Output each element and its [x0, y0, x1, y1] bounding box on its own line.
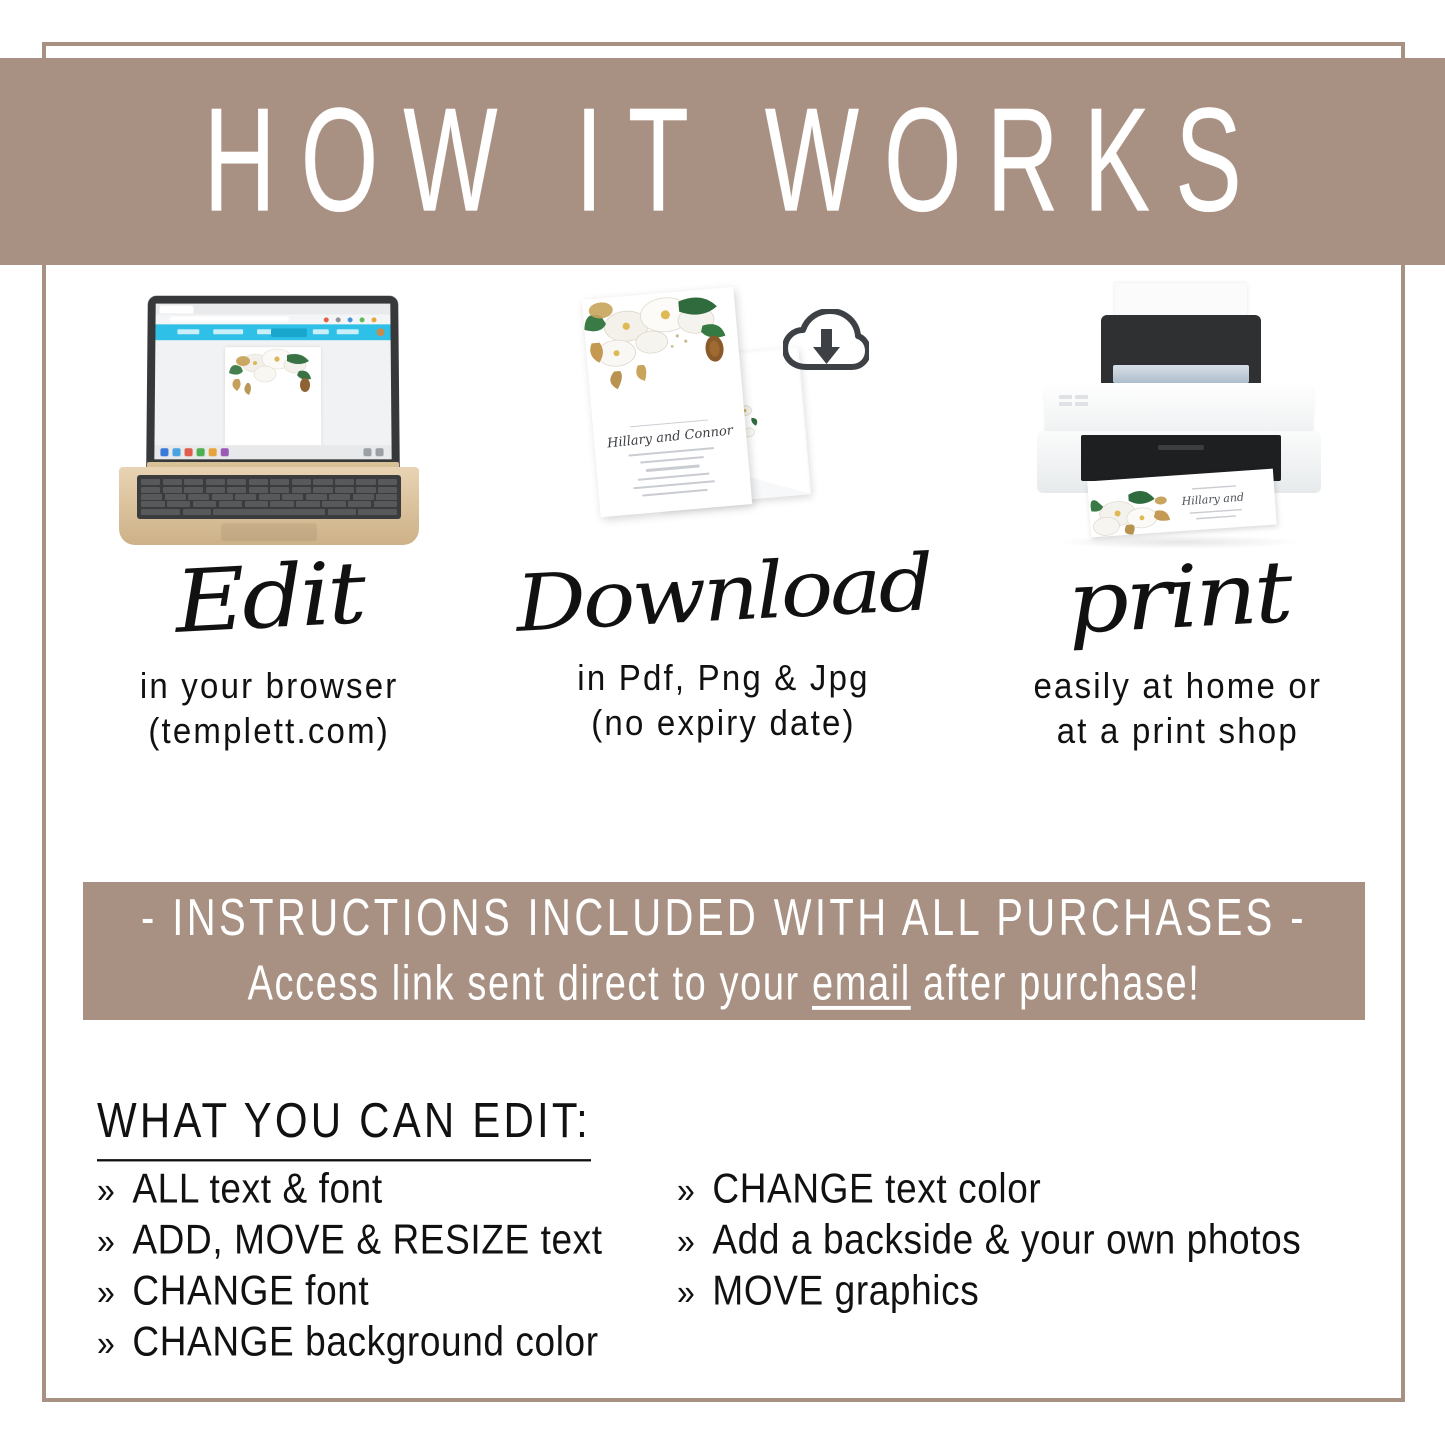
card-body-line: [634, 481, 716, 490]
invitation-floral-art: [225, 347, 322, 455]
keyboard-row: [141, 501, 397, 507]
edit-section-heading: WHAT YOU CAN EDIT:: [97, 1093, 591, 1161]
edit-item-label: CHANGE text color: [712, 1165, 1041, 1212]
laptop-keyboard: [137, 475, 401, 519]
taskbar-icon: [197, 448, 205, 456]
os-taskbar: [154, 445, 391, 459]
invitation-card-icon: H|C: [573, 287, 873, 545]
laptop-trackpad: [221, 523, 317, 541]
cloud-download-icon: [783, 309, 869, 375]
edit-item: »CHANGE background color: [97, 1318, 677, 1365]
browser-extension-icon: [372, 317, 377, 322]
edit-items-left-column: »ALL text & font »ADD, MOVE & RESIZE tex…: [97, 1168, 677, 1363]
edit-item-label: ADD, MOVE & RESIZE text: [132, 1216, 602, 1263]
step-caption: in your browser (templett.com): [140, 663, 399, 754]
card-body-line: [638, 473, 710, 481]
taskbar-icon: [209, 448, 217, 456]
editor-canvas: [155, 340, 392, 445]
card-date-line: [646, 465, 700, 473]
edit-item: »ADD, MOVE & RESIZE text: [97, 1216, 677, 1263]
toolbar-save: [313, 329, 329, 334]
laptop-lid: [146, 296, 400, 474]
toolbar-menu-edit: [213, 329, 243, 334]
card-text-block: Hillary and Connor: [593, 410, 752, 506]
browser-extension-icon: [360, 317, 365, 322]
browser-tabbar: [156, 304, 391, 315]
taskbar-clock: [376, 448, 384, 456]
browser-tab: [160, 306, 194, 314]
step-script-label: print: [1064, 549, 1291, 647]
printer-tray-guide: [1113, 365, 1249, 383]
toolbar-avatar: [377, 328, 385, 336]
taskbar-icon: [185, 448, 193, 456]
page-title: HOW IT WORKS: [178, 77, 1266, 246]
printer-icon: Hillary and: [1023, 283, 1333, 545]
taskbar-icon: [173, 448, 181, 456]
printer-illustration: Hillary and: [951, 280, 1405, 545]
step-caption: in Pdf, Png & Jpg (no expiry date): [577, 655, 869, 746]
bullet-icon: »: [677, 1272, 695, 1313]
edit-items-right-column: »CHANGE text color »Add a backside & you…: [677, 1168, 1377, 1363]
edit-items-columns: »ALL text & font »ADD, MOVE & RESIZE tex…: [97, 1168, 1387, 1363]
bullet-icon: »: [97, 1170, 115, 1211]
printer-slot-handle: [1158, 445, 1204, 450]
edit-item: »Add a backside & your own photos: [677, 1216, 1377, 1263]
caption-line-2: (templett.com): [140, 708, 399, 753]
laptop-illustration: [42, 280, 496, 545]
keyboard-row: [141, 487, 397, 493]
email-link[interactable]: email: [812, 957, 911, 1012]
steps-row: Edit in your browser (templett.com): [42, 280, 1405, 820]
edit-item: »CHANGE font: [97, 1267, 677, 1314]
edit-item: »MOVE graphics: [677, 1267, 1377, 1314]
edit-item-label: ALL text & font: [132, 1165, 382, 1212]
caption-line-2: at a print shop: [1033, 708, 1322, 753]
taskbar-tray-icon: [364, 448, 372, 456]
toolbar-download-button: [271, 328, 307, 337]
bullet-icon: »: [97, 1272, 115, 1313]
browser-addressbar: [156, 314, 391, 324]
invitation-preview: [225, 347, 322, 455]
bullet-icon: »: [677, 1221, 695, 1262]
svg-text:Hillary and: Hillary and: [1180, 491, 1244, 508]
instructions-text-after: after purchase!: [911, 957, 1201, 1012]
instructions-headline: - INSTRUCTIONS INCLUDED WITH ALL PURCHAS…: [141, 889, 1307, 948]
page-root: HOW IT WORKS: [0, 0, 1445, 1445]
caption-line-1: easily at home or: [1033, 663, 1322, 708]
card-body-line: [642, 489, 708, 497]
step-download: H|C: [496, 280, 950, 820]
edit-item: »CHANGE text color: [677, 1165, 1377, 1212]
bullet-icon: »: [97, 1221, 115, 1262]
toolbar-menu-file: [178, 329, 200, 334]
step-caption: easily at home or at a print shop: [1033, 663, 1322, 754]
browser-extension-icon: [336, 317, 341, 322]
bullet-icon: »: [677, 1170, 695, 1211]
edit-item-label: CHANGE background color: [132, 1318, 598, 1365]
printed-invitation: Hillary and: [1087, 469, 1276, 538]
laptop-base: [119, 467, 419, 545]
laptop-icon: [119, 295, 419, 545]
step-print: Hillary and print easily at home or at a…: [951, 280, 1405, 820]
browser-extension-icon: [324, 317, 329, 322]
edit-item-label: MOVE graphics: [712, 1267, 979, 1314]
caption-line-2: (no expiry date): [577, 700, 869, 745]
instructions-subline: Access link sent direct to your email af…: [248, 957, 1201, 1013]
instructions-text-before: Access link sent direct to your: [248, 957, 812, 1012]
card-floral-header: [582, 287, 744, 420]
edit-item: »ALL text & font: [97, 1165, 677, 1212]
taskbar-icon: [221, 448, 229, 456]
invitation-download-illustration: H|C: [496, 280, 950, 545]
caption-line-1: in Pdf, Png & Jpg: [577, 655, 869, 700]
card-couple-names: Hillary and Connor: [594, 422, 747, 453]
step-script-label: Download: [514, 544, 933, 644]
instructions-banner: - INSTRUCTIONS INCLUDED WITH ALL PURCHAS…: [83, 882, 1365, 1020]
caption-line-1: in your browser: [140, 663, 399, 708]
keyboard-row: [141, 494, 397, 500]
edit-item-label: CHANGE font: [132, 1267, 369, 1314]
keyboard-row: [141, 509, 397, 515]
step-edit: Edit in your browser (templett.com): [42, 280, 496, 820]
toolbar-help: [337, 329, 359, 334]
printed-floral-art: Hillary and: [1087, 469, 1276, 538]
browser-url-field: [170, 316, 289, 322]
invitation-card: Hillary and Connor: [582, 287, 752, 517]
header-banner: HOW IT WORKS: [0, 58, 1445, 265]
laptop-screen: [154, 304, 391, 460]
bullet-icon: »: [97, 1323, 115, 1364]
printer-control-panel: [1059, 395, 1093, 419]
printer-paper-tray: [1101, 315, 1261, 387]
templett-toolbar: [156, 324, 391, 340]
browser-extension-icon: [348, 317, 353, 322]
step-script-label: Edit: [173, 550, 365, 646]
keyboard-row: [141, 479, 397, 485]
taskbar-icon: [161, 448, 169, 456]
edit-item-label: Add a backside & your own photos: [712, 1216, 1301, 1263]
card-body-line: [641, 456, 705, 464]
